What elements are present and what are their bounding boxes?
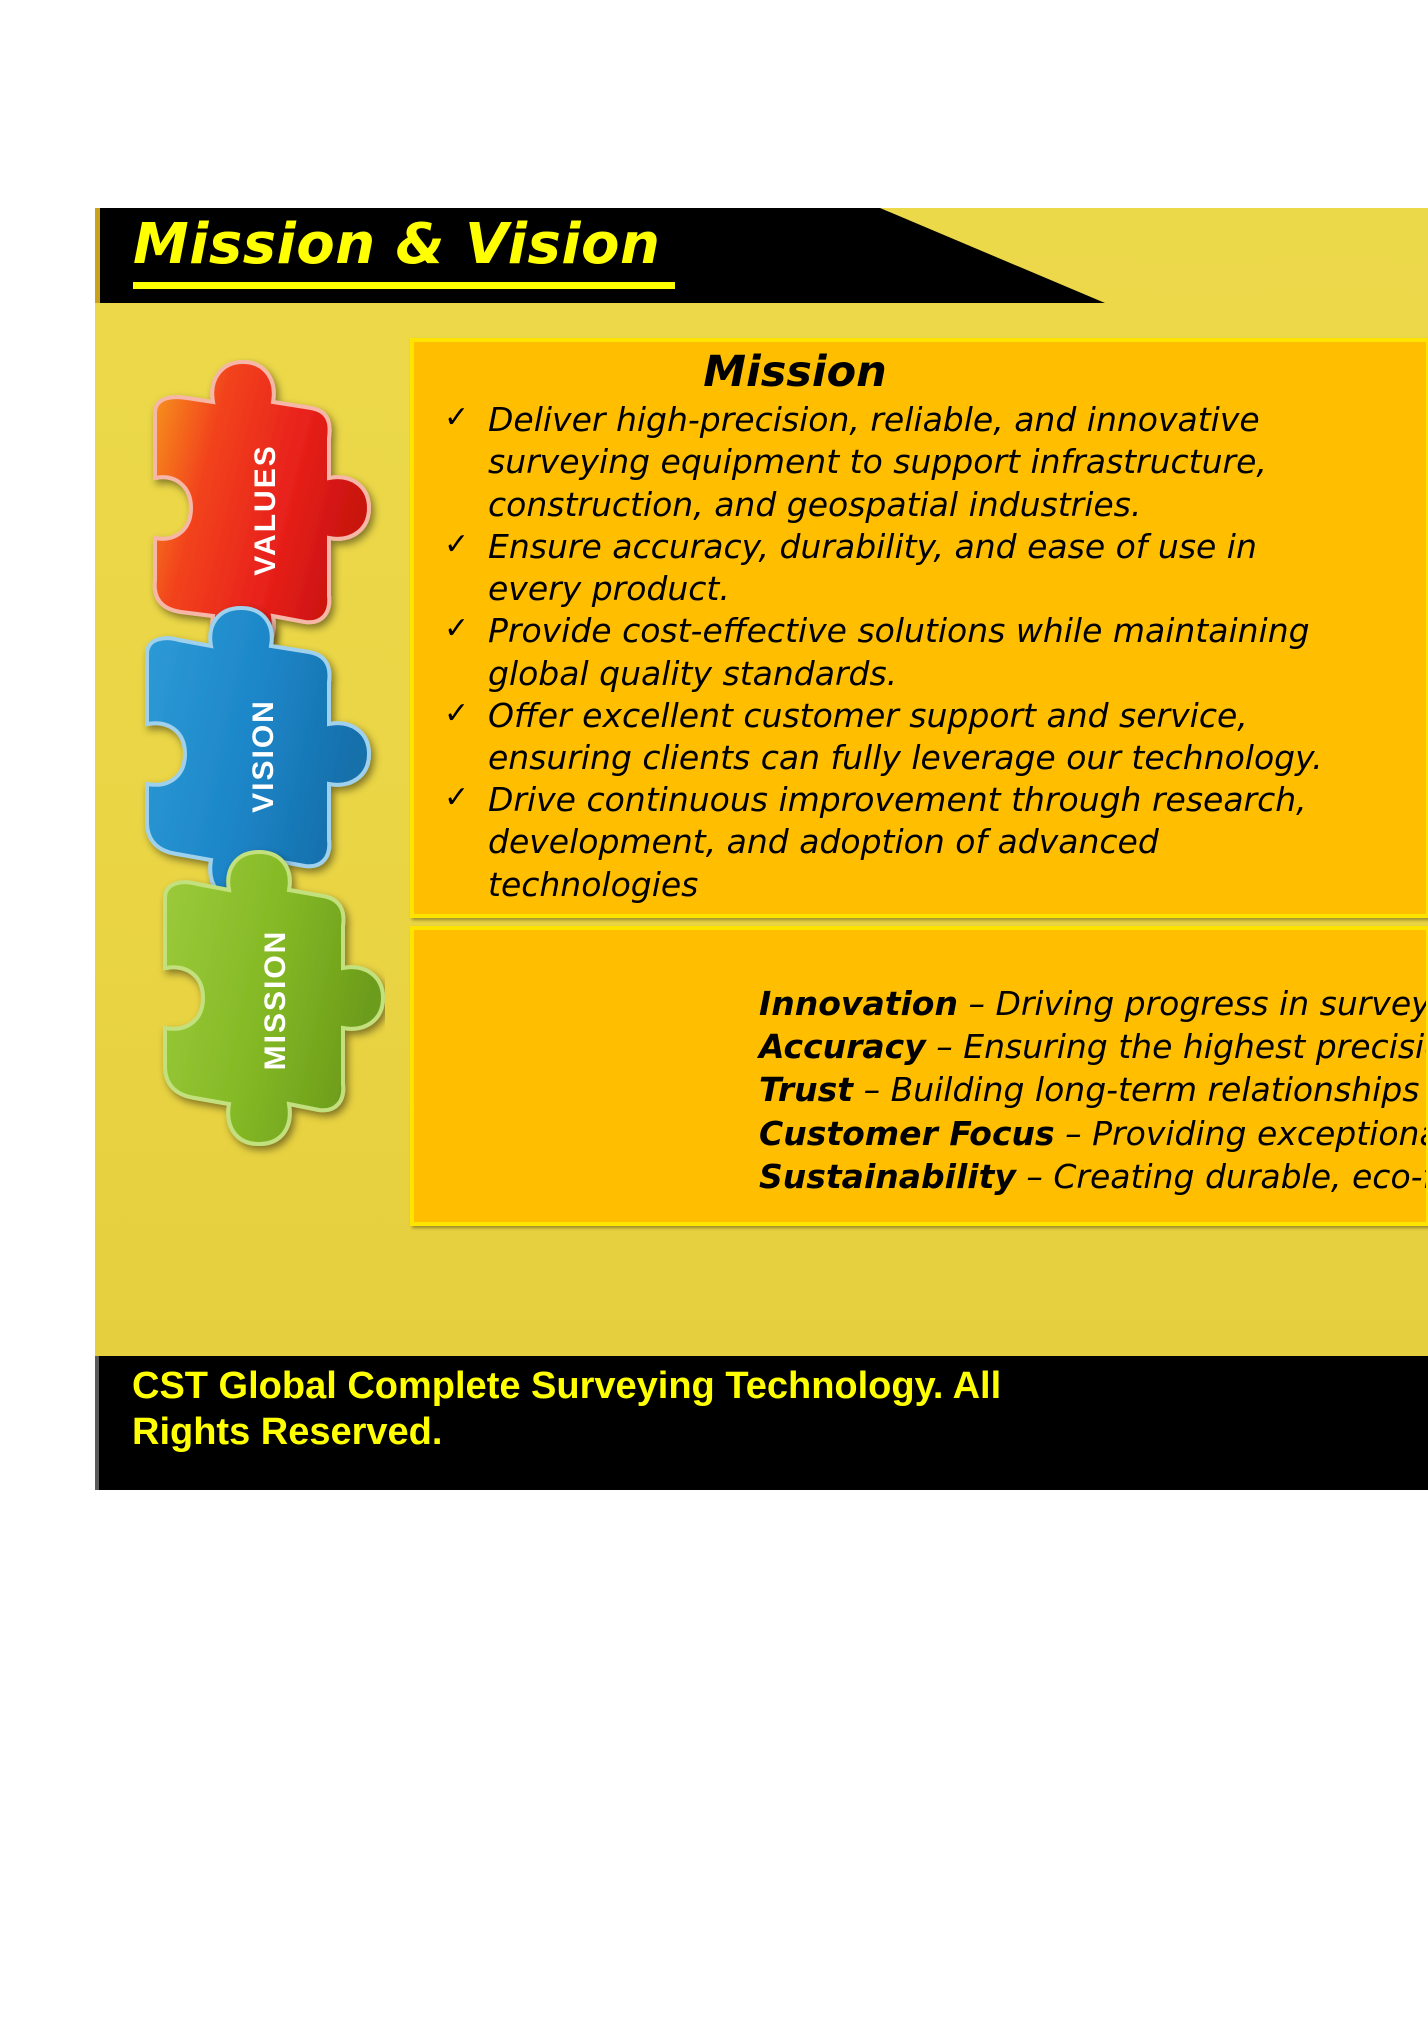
page-title-underline: [133, 282, 675, 289]
value-name-accuracy: Accuracy: [759, 1027, 926, 1066]
value-dash-trust: –: [853, 1070, 890, 1109]
page-title: Mission & Vision: [133, 217, 660, 273]
value-row-sustainability: Sustainability – Creating durable, eco-f…: [759, 1155, 1426, 1198]
mission-bullet-4: Offer excellent customer support and ser…: [436, 695, 1426, 779]
value-dash-customer-focus: –: [1055, 1114, 1092, 1153]
value-text-customer-focus: Providing exceptional service and suppor…: [1092, 1114, 1428, 1153]
value-row-trust: Trust – Building long-term relationships…: [759, 1068, 1426, 1111]
value-name-customer-focus: Customer Focus: [759, 1114, 1055, 1153]
value-text-trust: Building long-term relationships with cl…: [891, 1070, 1428, 1109]
value-row-accuracy: Accuracy – Ensuring the highest precisio…: [759, 1025, 1426, 1068]
puzzle-graphic: VALUES VISION MISSION: [125, 358, 385, 1158]
value-row-innovation: Innovation – Driving progress in surveyi…: [759, 982, 1426, 1025]
value-text-sustainability: Creating durable, eco-friendly products.: [1053, 1157, 1428, 1196]
mission-box: Mission Deliver high-precision, reliable…: [410, 338, 1428, 918]
mission-bullet-5-line2: development, and adoption of advanced: [488, 821, 1426, 863]
value-text-accuracy: Ensuring the highest precision in every …: [963, 1027, 1428, 1066]
mission-bullet-1-line1: Deliver high-precision, reliable, and in…: [488, 400, 1260, 439]
value-name-innovation: Innovation: [759, 984, 958, 1023]
mission-bullet-2: Ensure accuracy, durability, and ease of…: [436, 526, 1426, 610]
values-list: Innovation – Driving progress in surveyi…: [414, 930, 1426, 1198]
puzzle-label-vision: VISION: [247, 699, 280, 813]
footer-copyright-text: CST Global Complete Surveying Technology…: [132, 1363, 1032, 1456]
mission-bullet-list: Deliver high-precision, reliable, and in…: [414, 399, 1426, 906]
mission-bullet-1: Deliver high-precision, reliable, and in…: [436, 399, 1426, 526]
mission-bullet-2-line2: every product.: [488, 568, 1426, 610]
mission-bullet-5-line3: technologies: [488, 864, 1426, 906]
value-dash-accuracy: –: [926, 1027, 963, 1066]
value-name-trust: Trust: [759, 1070, 853, 1109]
mission-bullet-3-line2: global quality standards.: [488, 653, 1426, 695]
values-box: Innovation – Driving progress in surveyi…: [410, 926, 1428, 1226]
puzzle-label-mission: MISSION: [259, 930, 292, 1071]
mission-bullet-2-line1: Ensure accuracy, durability, and ease of…: [488, 527, 1257, 566]
value-row-customer-focus: Customer Focus – Providing exceptional s…: [759, 1112, 1426, 1155]
mission-heading: Mission: [414, 350, 1426, 395]
mission-bullet-1-line2: surveying equipment to support infrastru…: [488, 441, 1426, 483]
mission-bullet-5-line1: Drive continuous improvement through res…: [488, 780, 1307, 819]
mission-bullet-5: Drive continuous improvement through res…: [436, 779, 1426, 906]
mission-bullet-3: Provide cost-effective solutions while m…: [436, 610, 1426, 694]
mission-bullet-4-line2: ensuring clients can fully leverage our …: [488, 737, 1426, 779]
footer-left-edge: [95, 1356, 99, 1490]
header-left-edge: [95, 208, 100, 303]
puzzle-piece-values: VALUES: [155, 362, 369, 656]
slide-footer: CST Global Complete Surveying Technology…: [95, 1356, 1428, 1490]
mission-bullet-3-line1: Provide cost-effective solutions while m…: [488, 611, 1310, 650]
puzzle-label-values: VALUES: [249, 444, 282, 575]
value-dash-sustainability: –: [1016, 1157, 1053, 1196]
value-name-sustainability: Sustainability: [759, 1157, 1016, 1196]
value-text-innovation: Driving progress in surveying technology…: [995, 984, 1428, 1023]
value-dash-innovation: –: [958, 984, 995, 1023]
mission-bullet-1-line3: construction, and geospatial industries.: [488, 484, 1426, 526]
puzzle-piece-mission: MISSION: [165, 852, 383, 1144]
slide-canvas: Mission & Vision: [95, 208, 1428, 1356]
mission-bullet-4-line1: Offer excellent customer support and ser…: [488, 696, 1248, 735]
